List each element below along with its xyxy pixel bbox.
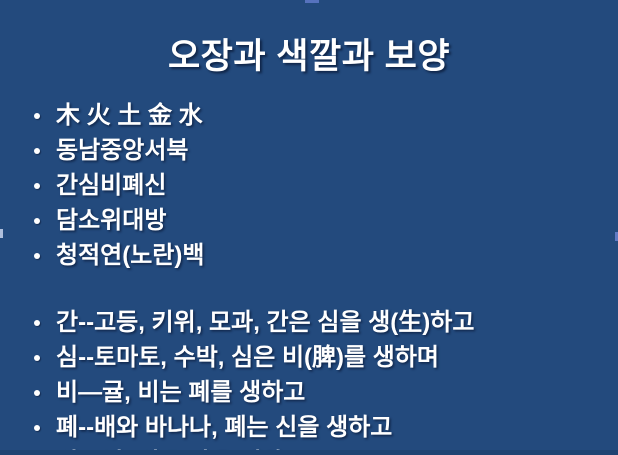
presentation-slide: 오장과 색깔과 보양 木 火 土 金 水 동남중앙서북 간심비폐신 담소위대방 … (0, 0, 618, 455)
left-edge-artifact (0, 229, 3, 238)
list-item-label: 담소위대방 (56, 203, 166, 238)
list-item: 간심비폐신 (28, 168, 610, 203)
list-item-label: 간--고등, 키위, 모과, 간은 심을 생(生)하고 (56, 305, 474, 340)
list-item: 동남중앙서북 (28, 133, 610, 168)
bullet-dot-icon (34, 390, 40, 396)
bullet-dot-icon (34, 148, 40, 154)
list-item: 청적연(노란)백 (28, 238, 610, 273)
bullet-dot-icon (34, 320, 40, 326)
list-item-label: 비—귤, 비는 폐를 생하고 (56, 375, 305, 410)
list-item: 심--토마토, 수박, 심은 비(脾)를 생하며 (28, 340, 610, 375)
list-item-label: 木 火 土 金 水 (56, 98, 203, 133)
bullet-dot-icon (34, 355, 40, 361)
list-item-label: 청적연(노란)백 (56, 238, 204, 273)
top-edge-artifact (305, 0, 319, 3)
list-item: 담소위대방 (28, 203, 610, 238)
bullet-dot-icon (34, 183, 40, 189)
bullet-dot-icon (34, 253, 40, 259)
bottom-edge-strip (0, 450, 618, 455)
list-item-label: 폐--배와 바나나, 폐는 신을 생하고 (56, 410, 392, 445)
bullet-dot-icon (34, 218, 40, 224)
bullet-dot-icon (34, 113, 40, 119)
five-elements-group: 木 火 土 金 水 동남중앙서북 간심비폐신 담소위대방 청적연(노란)백 (28, 98, 610, 273)
list-item: 폐--배와 바나나, 폐는 신을 생하고 (28, 410, 610, 445)
organ-food-generation-group: 간--고등, 키위, 모과, 간은 심을 생(生)하고 심--토마토, 수박, … (28, 305, 610, 455)
slide-body: 木 火 土 金 水 동남중앙서북 간심비폐신 담소위대방 청적연(노란)백 (28, 98, 610, 455)
list-item-label: 심--토마토, 수박, 심은 비(脾)를 생하며 (56, 340, 439, 375)
bullet-dot-icon (34, 425, 40, 431)
list-item: 비—귤, 비는 폐를 생하고 (28, 375, 610, 410)
list-item-label: 동남중앙서북 (56, 133, 188, 168)
list-item: 木 火 土 金 水 (28, 98, 610, 133)
list-item: 간--고등, 키위, 모과, 간은 심을 생(生)하고 (28, 305, 610, 340)
slide-title: 오장과 색깔과 보양 (0, 28, 618, 79)
list-item-label: 간심비폐신 (56, 168, 166, 203)
